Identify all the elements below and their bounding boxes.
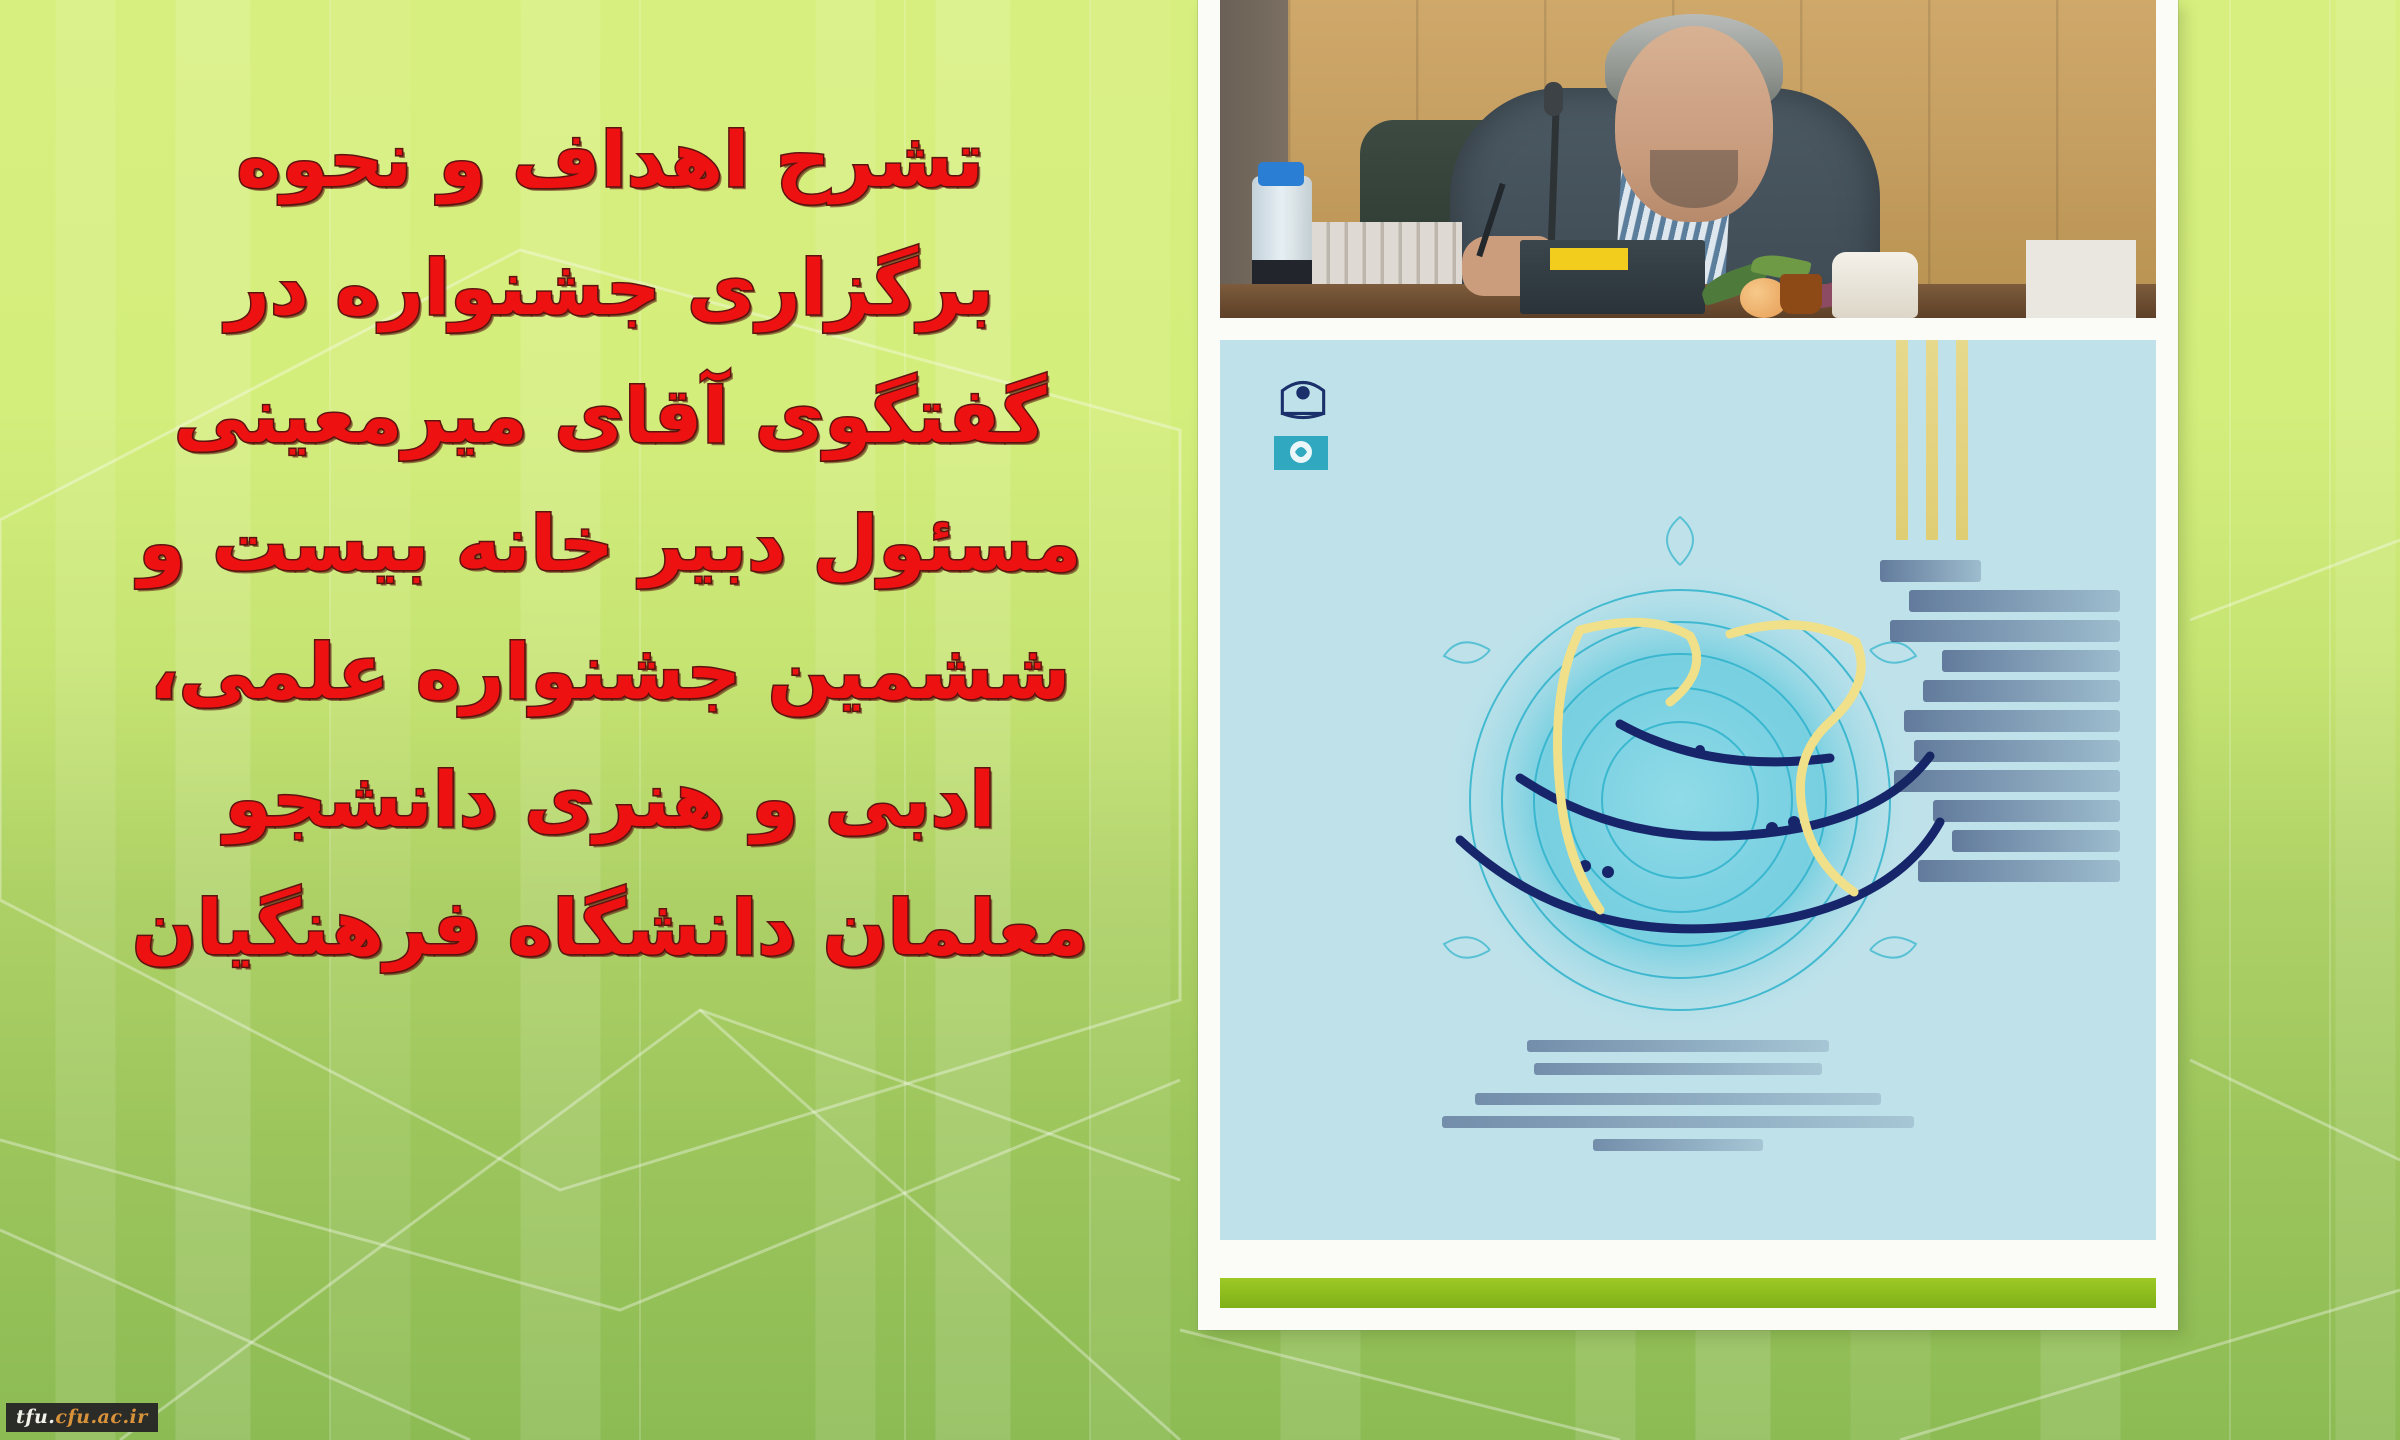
farhangian-university-logo-icon — [1272, 368, 1334, 430]
watermark-domain: cfu.ac.ir — [55, 1406, 147, 1428]
photo-person-beard — [1650, 150, 1738, 208]
photo-pastry-dish — [1832, 252, 1918, 318]
photo-white-object — [2026, 240, 2136, 318]
content-panel — [1198, 0, 2178, 1330]
headline-line-6: ادبی و هنری دانشجو — [40, 736, 1180, 864]
site-watermark: tfu.cfu.ac.ir — [6, 1403, 158, 1432]
poster-info-lines — [1350, 1040, 2006, 1170]
watermark-prefix: tfu. — [16, 1406, 55, 1428]
speaker-photo — [1220, 0, 2156, 318]
headline-line-2: برگزاری جشنواره در — [40, 224, 1180, 352]
headline-line-5: ششمین جشنواره علمی، — [40, 608, 1180, 736]
photo-microphone-head — [1544, 82, 1563, 116]
headline-line-4: مسئول دبیر خانه بیست و — [40, 480, 1180, 608]
panel-accent-bar — [1220, 1278, 2156, 1308]
festival-poster — [1220, 340, 2156, 1240]
presentation-slide: تشرح اهداف و نحوه برگزاری جشنواره در گفت… — [0, 0, 2400, 1440]
photo-tea-glass — [1780, 274, 1822, 314]
poster-ribbon-decoration — [1896, 340, 1986, 540]
slide-headline: تشرح اهداف و نحوه برگزاری جشنواره در گفت… — [40, 96, 1180, 1346]
poster-category-list — [1880, 560, 2120, 890]
headline-line-3: گفتگوی آقای میرمعینی — [40, 352, 1180, 480]
photo-bottle-cap — [1258, 162, 1304, 186]
headline-line-1: تشرح اهداف و نحوه — [40, 96, 1180, 224]
festival-emblem-icon — [1274, 436, 1328, 470]
photo-nameplate-yellow-tag — [1550, 248, 1628, 270]
headline-line-7: معلمان دانشگاه فرهنگیان — [40, 864, 1180, 992]
